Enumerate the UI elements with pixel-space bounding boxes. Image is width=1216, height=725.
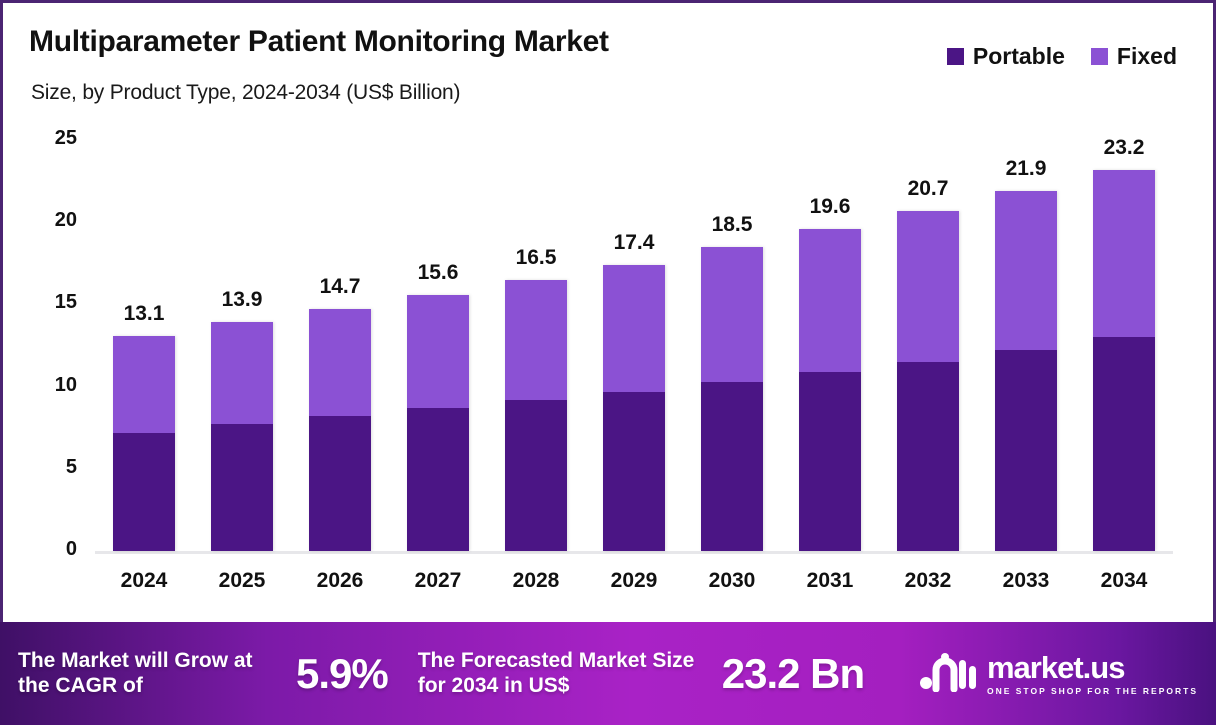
bar-group: 23.2 xyxy=(1075,133,1173,551)
bar-group: 20.7 xyxy=(879,133,977,551)
market-us-mark-icon xyxy=(919,650,977,697)
stacked-bar-2029[interactable] xyxy=(603,265,665,551)
stacked-bar-2033[interactable] xyxy=(995,191,1057,551)
bar-segment-fixed[interactable] xyxy=(309,309,371,416)
y-axis-tick-15: 15 xyxy=(31,291,77,314)
stacked-bar-2024[interactable] xyxy=(113,336,175,551)
bar-segment-portable[interactable] xyxy=(211,424,273,551)
stacked-bar-2025[interactable] xyxy=(211,322,273,551)
stacked-bar-2032[interactable] xyxy=(897,211,959,551)
x-axis-label-2024: 2024 xyxy=(95,559,193,599)
x-axis-labels: 2024202520262027202820292030203120322033… xyxy=(95,559,1173,599)
bar-segment-portable[interactable] xyxy=(1093,337,1155,551)
x-axis-label-2028: 2028 xyxy=(487,559,585,599)
bar-group: 19.6 xyxy=(781,133,879,551)
bar-segment-fixed[interactable] xyxy=(603,265,665,392)
bar-segment-portable[interactable] xyxy=(799,372,861,551)
x-axis-label-2034: 2034 xyxy=(1075,559,1173,599)
bar-total-label: 13.9 xyxy=(193,288,291,312)
bar-group: 18.5 xyxy=(683,133,781,551)
bar-group: 15.6 xyxy=(389,133,487,551)
bar-group: 21.9 xyxy=(977,133,1075,551)
forecast-caption: The Forecasted Market Size for 2034 in U… xyxy=(418,649,718,699)
chart-infographic: Multiparameter Patient Monitoring Market… xyxy=(0,0,1216,722)
market-us-logo[interactable]: market.us ONE STOP SHOP FOR THE REPORTS xyxy=(919,650,1198,697)
bar-segment-portable[interactable] xyxy=(701,382,763,551)
stacked-bar-2026[interactable] xyxy=(309,309,371,551)
stacked-bar-2034[interactable] xyxy=(1093,170,1155,551)
bar-total-label: 15.6 xyxy=(389,261,487,285)
forecast-value: 23.2 Bn xyxy=(722,649,864,699)
bar-total-label: 13.1 xyxy=(95,302,193,326)
x-axis-label-2032: 2032 xyxy=(879,559,977,599)
bar-segment-fixed[interactable] xyxy=(211,322,273,424)
bar-series-container: 13.113.914.715.616.517.418.519.620.721.9… xyxy=(95,133,1173,551)
x-axis-label-2025: 2025 xyxy=(193,559,291,599)
bar-total-label: 20.7 xyxy=(879,177,977,201)
y-axis-tick-5: 5 xyxy=(31,456,77,479)
footer-banner: The Market will Grow at the CAGR of 5.9%… xyxy=(0,622,1216,725)
bar-segment-fixed[interactable] xyxy=(701,247,763,382)
bar-segment-portable[interactable] xyxy=(897,362,959,551)
bar-segment-portable[interactable] xyxy=(505,400,567,551)
chart-plot-area: 0510152025 13.113.914.715.616.517.418.51… xyxy=(3,3,1213,615)
cagr-value: 5.9% xyxy=(296,649,388,699)
stacked-bar-2031[interactable] xyxy=(799,229,861,551)
bar-group: 16.5 xyxy=(487,133,585,551)
bar-total-label: 23.2 xyxy=(1075,136,1173,160)
bar-group: 13.9 xyxy=(193,133,291,551)
bar-total-label: 14.7 xyxy=(291,275,389,299)
logo-tagline: ONE STOP SHOP FOR THE REPORTS xyxy=(987,686,1198,696)
x-axis-label-2033: 2033 xyxy=(977,559,1075,599)
x-axis-line xyxy=(95,551,1173,554)
bar-segment-portable[interactable] xyxy=(603,392,665,551)
bar-segment-portable[interactable] xyxy=(995,350,1057,551)
y-axis-tick-0: 0 xyxy=(31,538,77,561)
bar-segment-portable[interactable] xyxy=(407,408,469,551)
bar-segment-fixed[interactable] xyxy=(407,295,469,408)
bar-segment-portable[interactable] xyxy=(309,416,371,551)
bar-group: 14.7 xyxy=(291,133,389,551)
bar-segment-fixed[interactable] xyxy=(1093,170,1155,338)
bar-segment-portable[interactable] xyxy=(113,433,175,551)
y-axis-tick-20: 20 xyxy=(31,209,77,232)
stacked-bar-2030[interactable] xyxy=(701,247,763,551)
y-axis-tick-10: 10 xyxy=(31,374,77,397)
bar-group: 13.1 xyxy=(95,133,193,551)
logo-name: market.us xyxy=(987,652,1198,683)
bar-total-label: 18.5 xyxy=(683,213,781,237)
y-axis-tick-25: 25 xyxy=(31,127,77,150)
x-axis-label-2029: 2029 xyxy=(585,559,683,599)
bar-segment-fixed[interactable] xyxy=(113,336,175,433)
x-axis-label-2031: 2031 xyxy=(781,559,879,599)
bar-total-label: 19.6 xyxy=(781,195,879,219)
bar-segment-fixed[interactable] xyxy=(799,229,861,372)
x-axis-label-2026: 2026 xyxy=(291,559,389,599)
stacked-bar-2027[interactable] xyxy=(407,295,469,551)
bar-total-label: 17.4 xyxy=(585,231,683,255)
x-axis-label-2027: 2027 xyxy=(389,559,487,599)
bar-group: 17.4 xyxy=(585,133,683,551)
logo-text-block: market.us ONE STOP SHOP FOR THE REPORTS xyxy=(987,652,1198,696)
bar-segment-fixed[interactable] xyxy=(995,191,1057,350)
x-axis-label-2030: 2030 xyxy=(683,559,781,599)
bar-segment-fixed[interactable] xyxy=(505,280,567,400)
stacked-bar-2028[interactable] xyxy=(505,280,567,551)
cagr-caption: The Market will Grow at the CAGR of xyxy=(18,649,288,699)
bar-segment-fixed[interactable] xyxy=(897,211,959,362)
bar-total-label: 21.9 xyxy=(977,157,1075,181)
bar-total-label: 16.5 xyxy=(487,246,585,270)
